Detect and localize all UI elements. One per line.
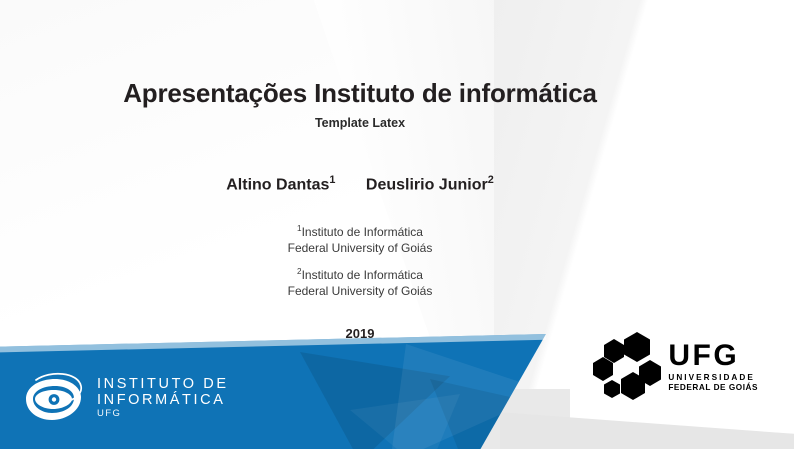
hexagon-cluster-icon <box>593 330 661 404</box>
inf-logo: INSTITUTO DE INFORMÁTICA UFG <box>24 370 229 426</box>
affiliation-line: 2Instituto de Informática <box>0 267 720 284</box>
author-list: Altino Dantas1 Deuslirio Junior2 <box>0 174 720 194</box>
author-affiliation-marker: 2 <box>488 174 494 186</box>
affiliation-institute: Instituto de Informática <box>302 268 423 282</box>
ufg-logo: UFG UNIVERSIDADE FEDERAL DE GOIÁS <box>593 330 758 404</box>
slide-title: Apresentações Instituto de informática <box>0 78 720 109</box>
affiliation-university: Federal University of Goiás <box>0 284 720 300</box>
author-entry: Deuslirio Junior2 <box>366 174 494 194</box>
ufg-logo-line1: UNIVERSIDADE <box>668 373 758 382</box>
ufg-acronym: UFG <box>668 342 758 371</box>
affiliation-university: Federal University of Goiás <box>0 241 720 257</box>
title-slide: Apresentações Instituto de informática T… <box>0 0 794 449</box>
inf-logo-line2: INFORMÁTICA <box>97 392 229 408</box>
inf-logo-text: INSTITUTO DE INFORMÁTICA UFG <box>97 376 229 420</box>
inf-logo-line1: INSTITUTO DE <box>97 376 229 392</box>
ufg-logo-text: UFG UNIVERSIDADE FEDERAL DE GOIÁS <box>668 342 758 393</box>
slide-subtitle: Template Latex <box>0 116 720 130</box>
author-affiliation-marker: 1 <box>329 174 335 186</box>
author-name: Deuslirio Junior <box>366 176 488 193</box>
author-name: Altino Dantas <box>226 176 329 193</box>
affiliation-block: 2Instituto de Informática Federal Univer… <box>0 267 720 300</box>
author-entry: Altino Dantas1 <box>226 174 335 194</box>
ufg-logo-line2: FEDERAL DE GOIÁS <box>668 383 758 392</box>
eye-swirl-icon <box>24 370 86 426</box>
affiliation-institute: Instituto de Informática <box>302 225 423 239</box>
inf-logo-line3: UFG <box>97 409 229 420</box>
affiliation-line: 1Instituto de Informática <box>0 224 720 241</box>
affiliation-block: 1Instituto de Informática Federal Univer… <box>0 224 720 257</box>
